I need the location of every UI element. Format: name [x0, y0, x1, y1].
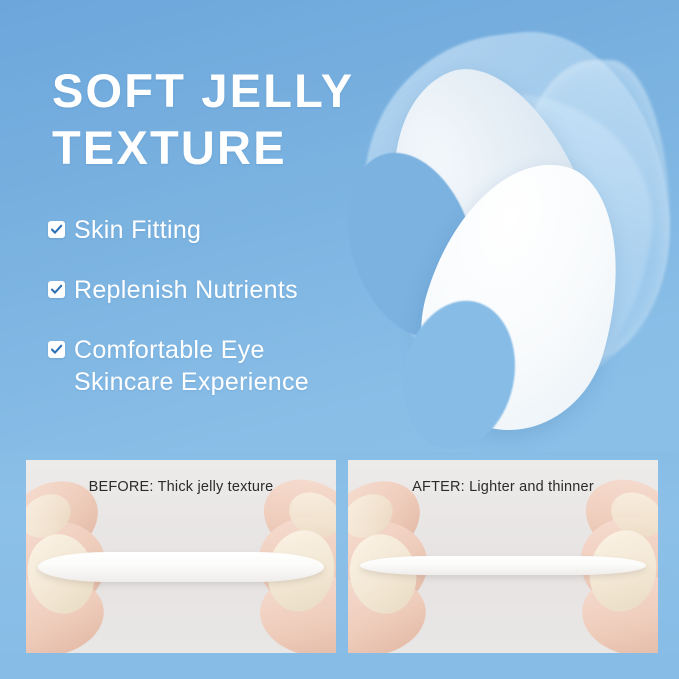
feature-label: Replenish Nutrients: [74, 274, 298, 306]
jelly-strand-thin: [360, 556, 646, 575]
jelly-strand-thick: [38, 552, 324, 582]
after-panel: AFTER: Lighter and thinner: [348, 460, 658, 653]
checkbox-checked-icon: [48, 281, 65, 298]
after-caption: AFTER: Lighter and thinner: [348, 479, 658, 495]
checkbox-checked-icon: [48, 221, 65, 238]
before-panel: BEFORE: Thick jelly texture: [26, 460, 336, 653]
feature-label: Comfortable Eye Skincare Experience: [74, 334, 368, 398]
feature-item: Skin Fitting: [48, 214, 368, 246]
product-feature-image: SOFT JELLY TEXTURE Skin Fitting Replenis…: [0, 0, 679, 679]
feature-item: Comfortable Eye Skincare Experience: [48, 334, 368, 398]
comparison-panels: BEFORE: Thick jelly texture AFTER: Light…: [26, 460, 658, 653]
page-title: SOFT JELLY TEXTURE: [52, 62, 382, 177]
feature-label: Skin Fitting: [74, 214, 201, 246]
before-caption: BEFORE: Thick jelly texture: [26, 479, 336, 495]
checkbox-checked-icon: [48, 341, 65, 358]
bottom-strip: [0, 653, 679, 679]
feature-list: Skin Fitting Replenish Nutrients Comfort…: [48, 214, 368, 398]
feature-item: Replenish Nutrients: [48, 274, 368, 306]
